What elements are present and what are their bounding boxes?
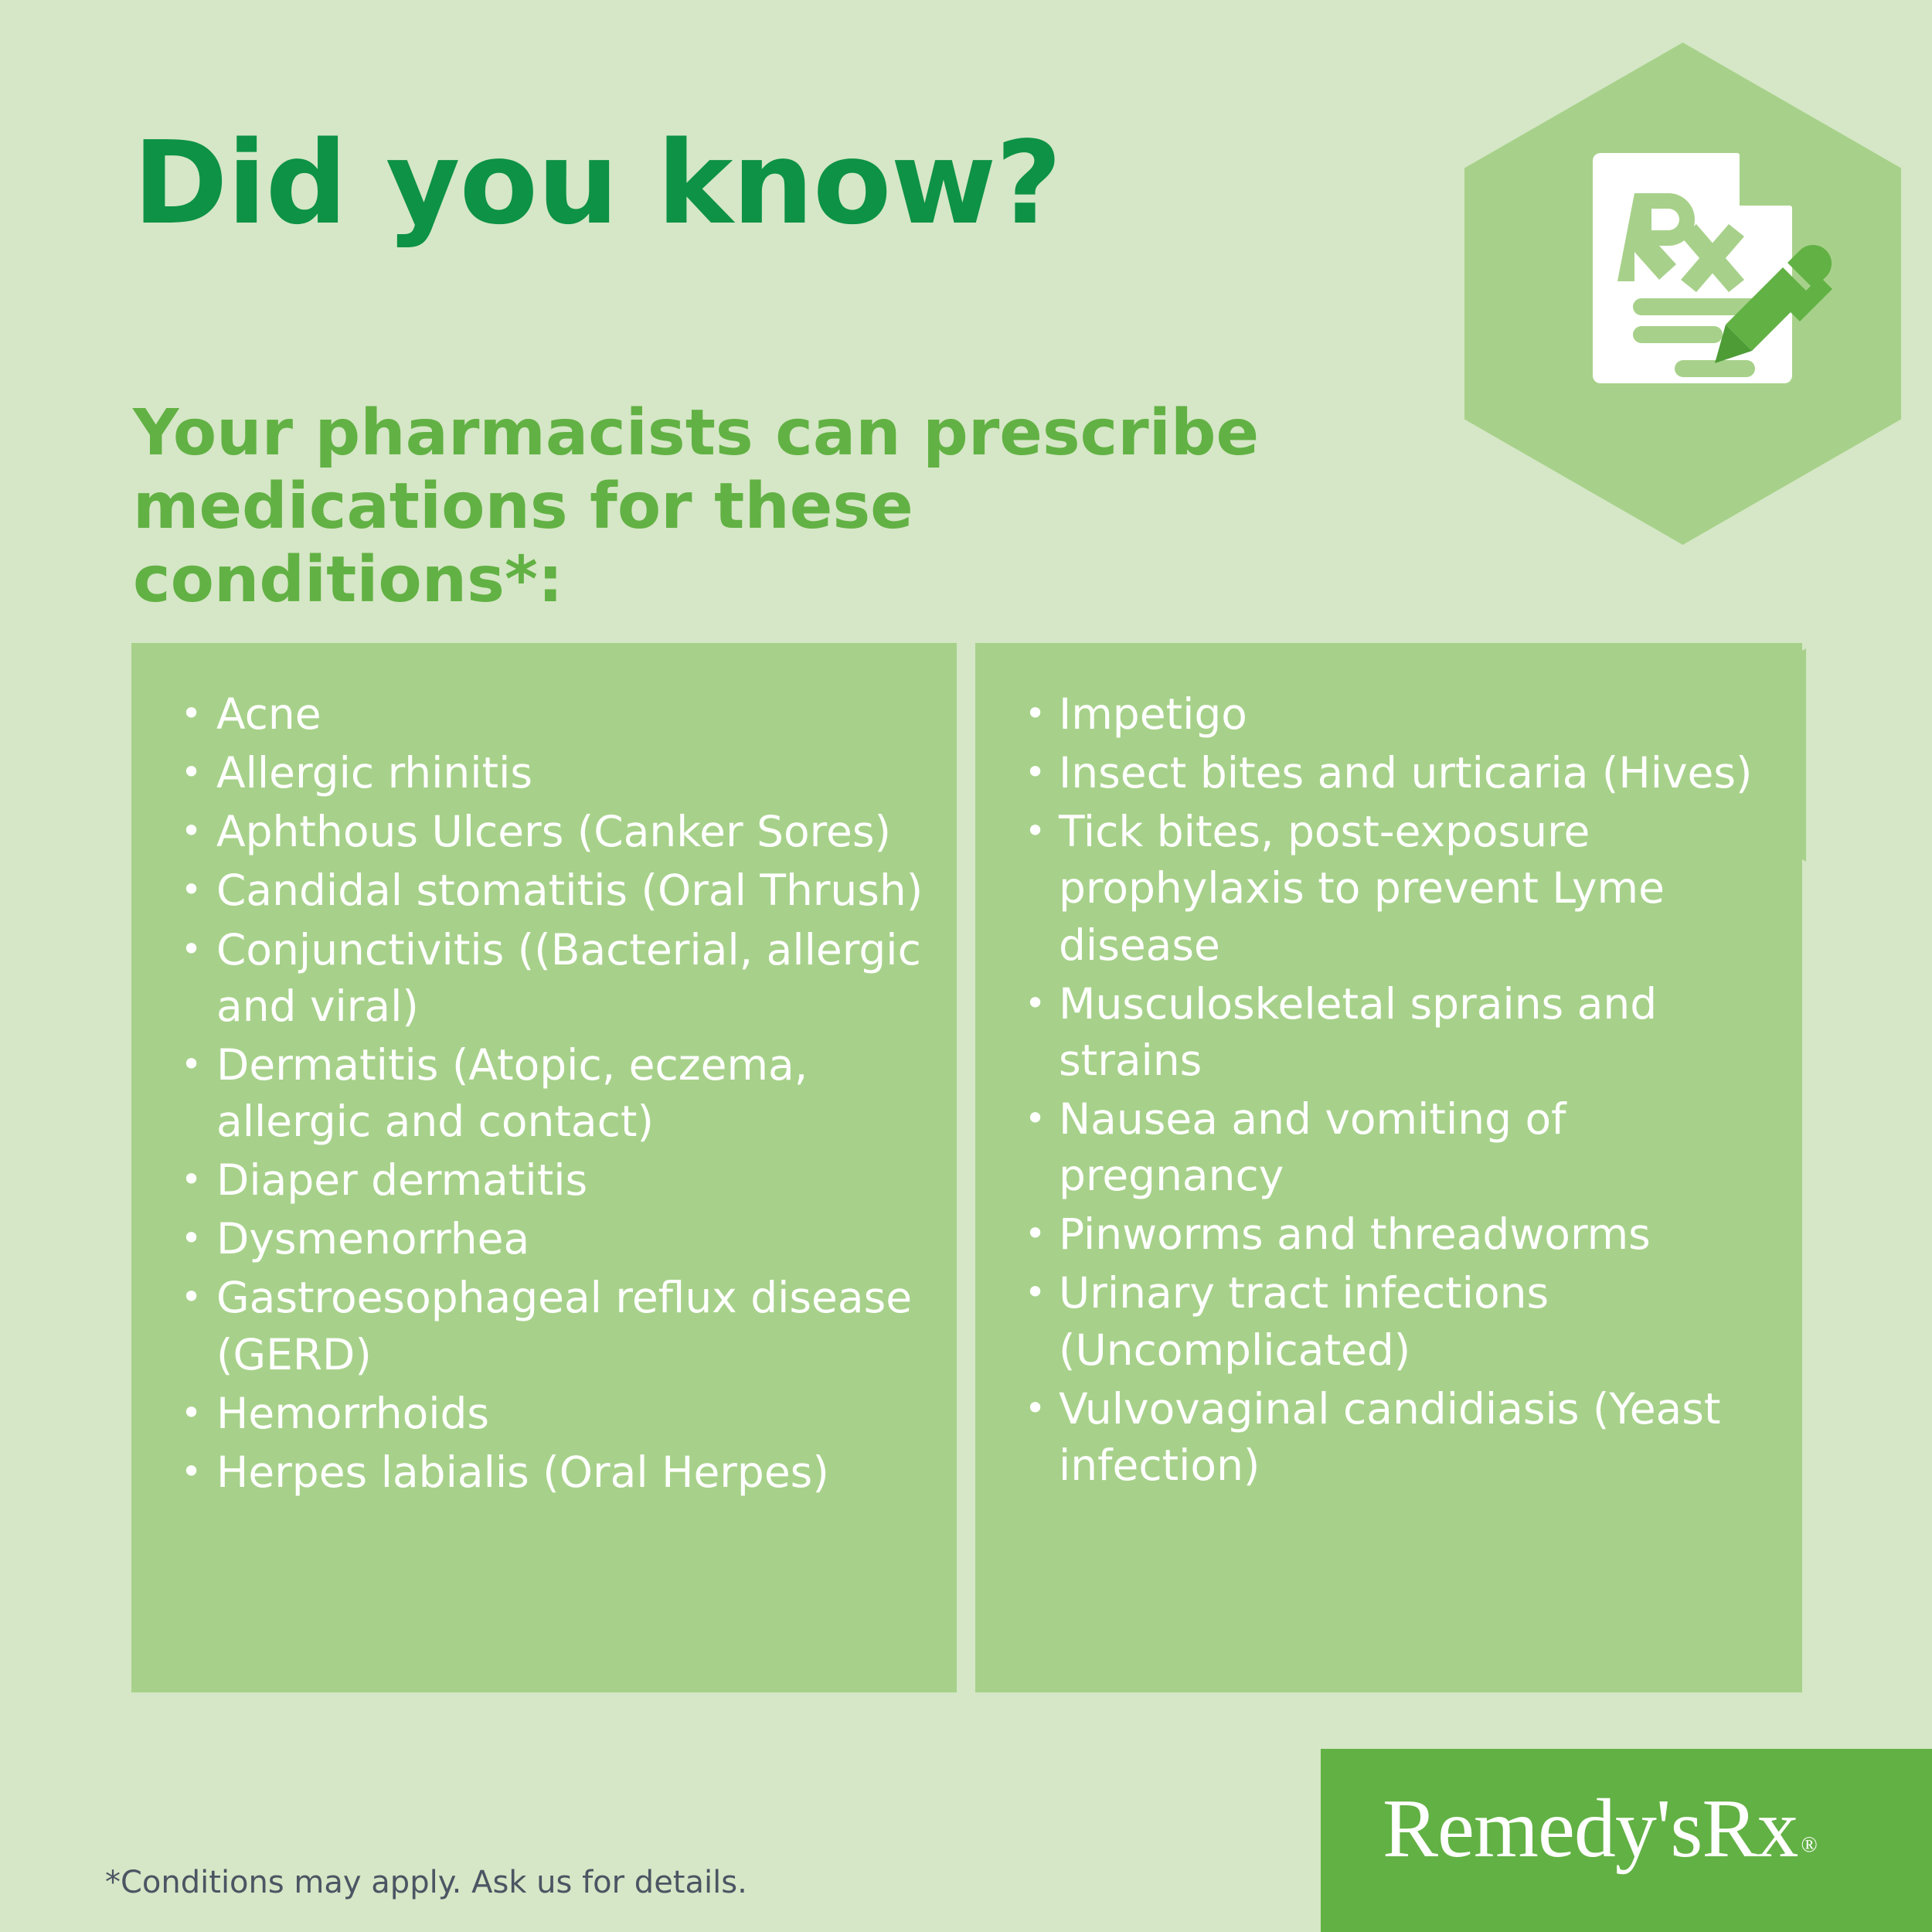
brand-name: Remedy'sRx: [1383, 1783, 1798, 1875]
brand-logo-box: Remedy'sRx®: [1321, 1749, 1932, 1932]
list-item: Impetigo: [1025, 686, 1771, 743]
list-item: Candidal stomatitis (Oral Thrush): [181, 862, 926, 919]
footnote-text: *Conditions may apply. Ask us for detail…: [105, 1864, 747, 1901]
list-item: Pinworms and threadworms: [1025, 1206, 1771, 1263]
registered-trademark-icon: ®: [1801, 1833, 1816, 1857]
conditions-list-right: Impetigo Insect bites and urticaria (Hiv…: [1025, 686, 1771, 1494]
conditions-list-left: Acne Allergic rhinitis Aphthous Ulcers (…: [181, 686, 926, 1501]
conditions-panel-left: Acne Allergic rhinitis Aphthous Ulcers (…: [131, 643, 957, 1692]
list-item: Diaper dermatitis: [181, 1152, 926, 1209]
list-item: Dermatitis (Atopic, eczema, allergic and…: [181, 1037, 926, 1150]
list-item: Herpes labialis (Oral Herpes): [181, 1444, 926, 1501]
list-item: Vulvovaginal candidiasis (Yeast infectio…: [1025, 1381, 1771, 1494]
infographic-poster: Did you know? Your pharmacists can presc…: [0, 0, 1932, 1932]
list-item: Urinary tract infections (Uncomplicated): [1025, 1265, 1771, 1378]
list-item: Gastroesophageal reflux disease (GERD): [181, 1270, 926, 1383]
brand-logo: Remedy'sRx®: [1383, 1787, 1817, 1871]
list-item: Nausea and vomiting of pregnancy: [1025, 1091, 1771, 1204]
conditions-panel-right: Impetigo Insect bites and urticaria (Hiv…: [975, 643, 1802, 1692]
list-item: Musculoskeletal sprains and strains: [1025, 976, 1771, 1089]
list-item: Hemorrhoids: [181, 1386, 926, 1442]
page-subtitle: Your pharmacists can prescribe medicatio…: [133, 396, 1292, 617]
list-item: Aphthous Ulcers (Canker Sores): [181, 804, 926, 860]
rx-prescription-document-icon: [1588, 147, 1843, 402]
list-item: Allergic rhinitis: [181, 745, 926, 801]
list-item: Insect bites and urticaria (Hives): [1025, 745, 1771, 801]
page-title: Did you know?: [133, 126, 1061, 240]
list-item: Dysmenorrhea: [181, 1211, 926, 1267]
hexagon-outline-shape: [1797, 553, 1932, 957]
list-item: Conjunctivitis ((Bacterial, allergic and…: [181, 922, 926, 1035]
list-item: Tick bites, post-exposure prophylaxis to…: [1025, 804, 1771, 973]
list-item: Acne: [181, 686, 926, 743]
